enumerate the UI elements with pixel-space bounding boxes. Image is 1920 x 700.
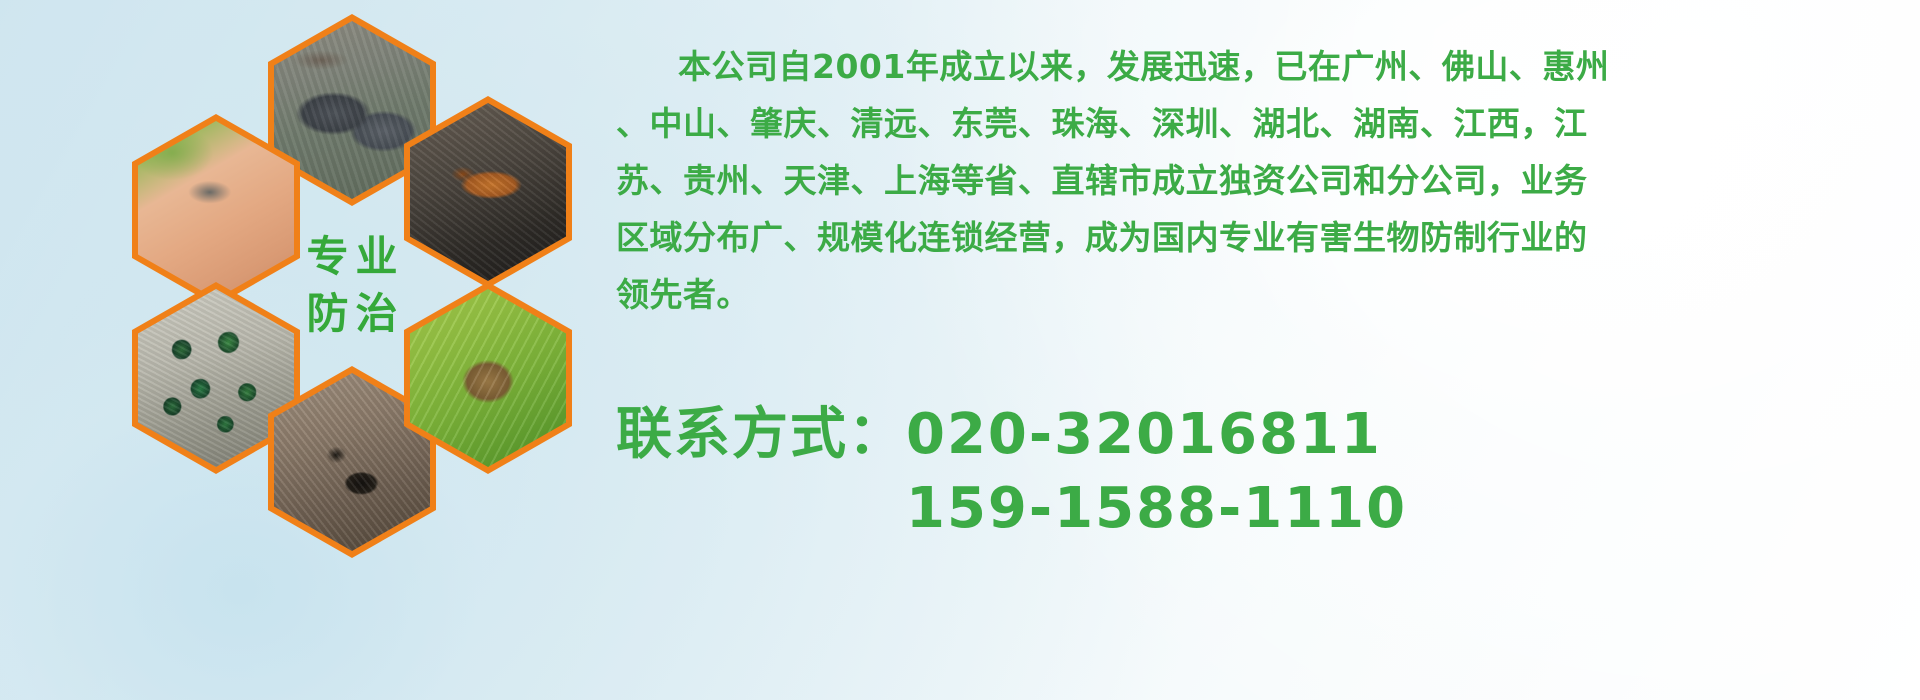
description-line-2: 、中山、肇庆、清远、东莞、珠海、深圳、湖北、湖南、江西，江 [616, 95, 1866, 152]
company-description: 本公司自2001年成立以来，发展迅速，已在广州、佛山、惠州 、中山、肇庆、清远、… [616, 38, 1866, 323]
contact-block: 联系方式：020-32016811 159-1588-1110 [616, 398, 1866, 546]
promo-banner: 专业 防治 本公司自2001年成立以来，发展迅速，已在广州、佛山、惠州 、中山、… [0, 0, 1920, 700]
description-line-5: 领先者。 [616, 266, 1866, 323]
badge-line-1: 专业 [299, 229, 404, 286]
contact-phone[interactable]: 联系方式：020-32016811 [616, 398, 1866, 472]
description-line-3: 苏、贵州、天津、上海等省、直辖市成立独资公司和分公司，业务 [616, 152, 1866, 209]
hexagon-photo-cluster: 专业 防治 [96, 14, 596, 574]
description-line-1: 本公司自2001年成立以来，发展迅速，已在广州、佛山、惠州 [616, 38, 1866, 95]
badge-line-2: 防治 [299, 286, 404, 343]
contact-mobile[interactable]: 159-1588-1110 [616, 472, 1866, 546]
description-line-4: 区域分布广、规模化连锁经营，成为国内专业有害生物防制行业的 [616, 209, 1866, 266]
